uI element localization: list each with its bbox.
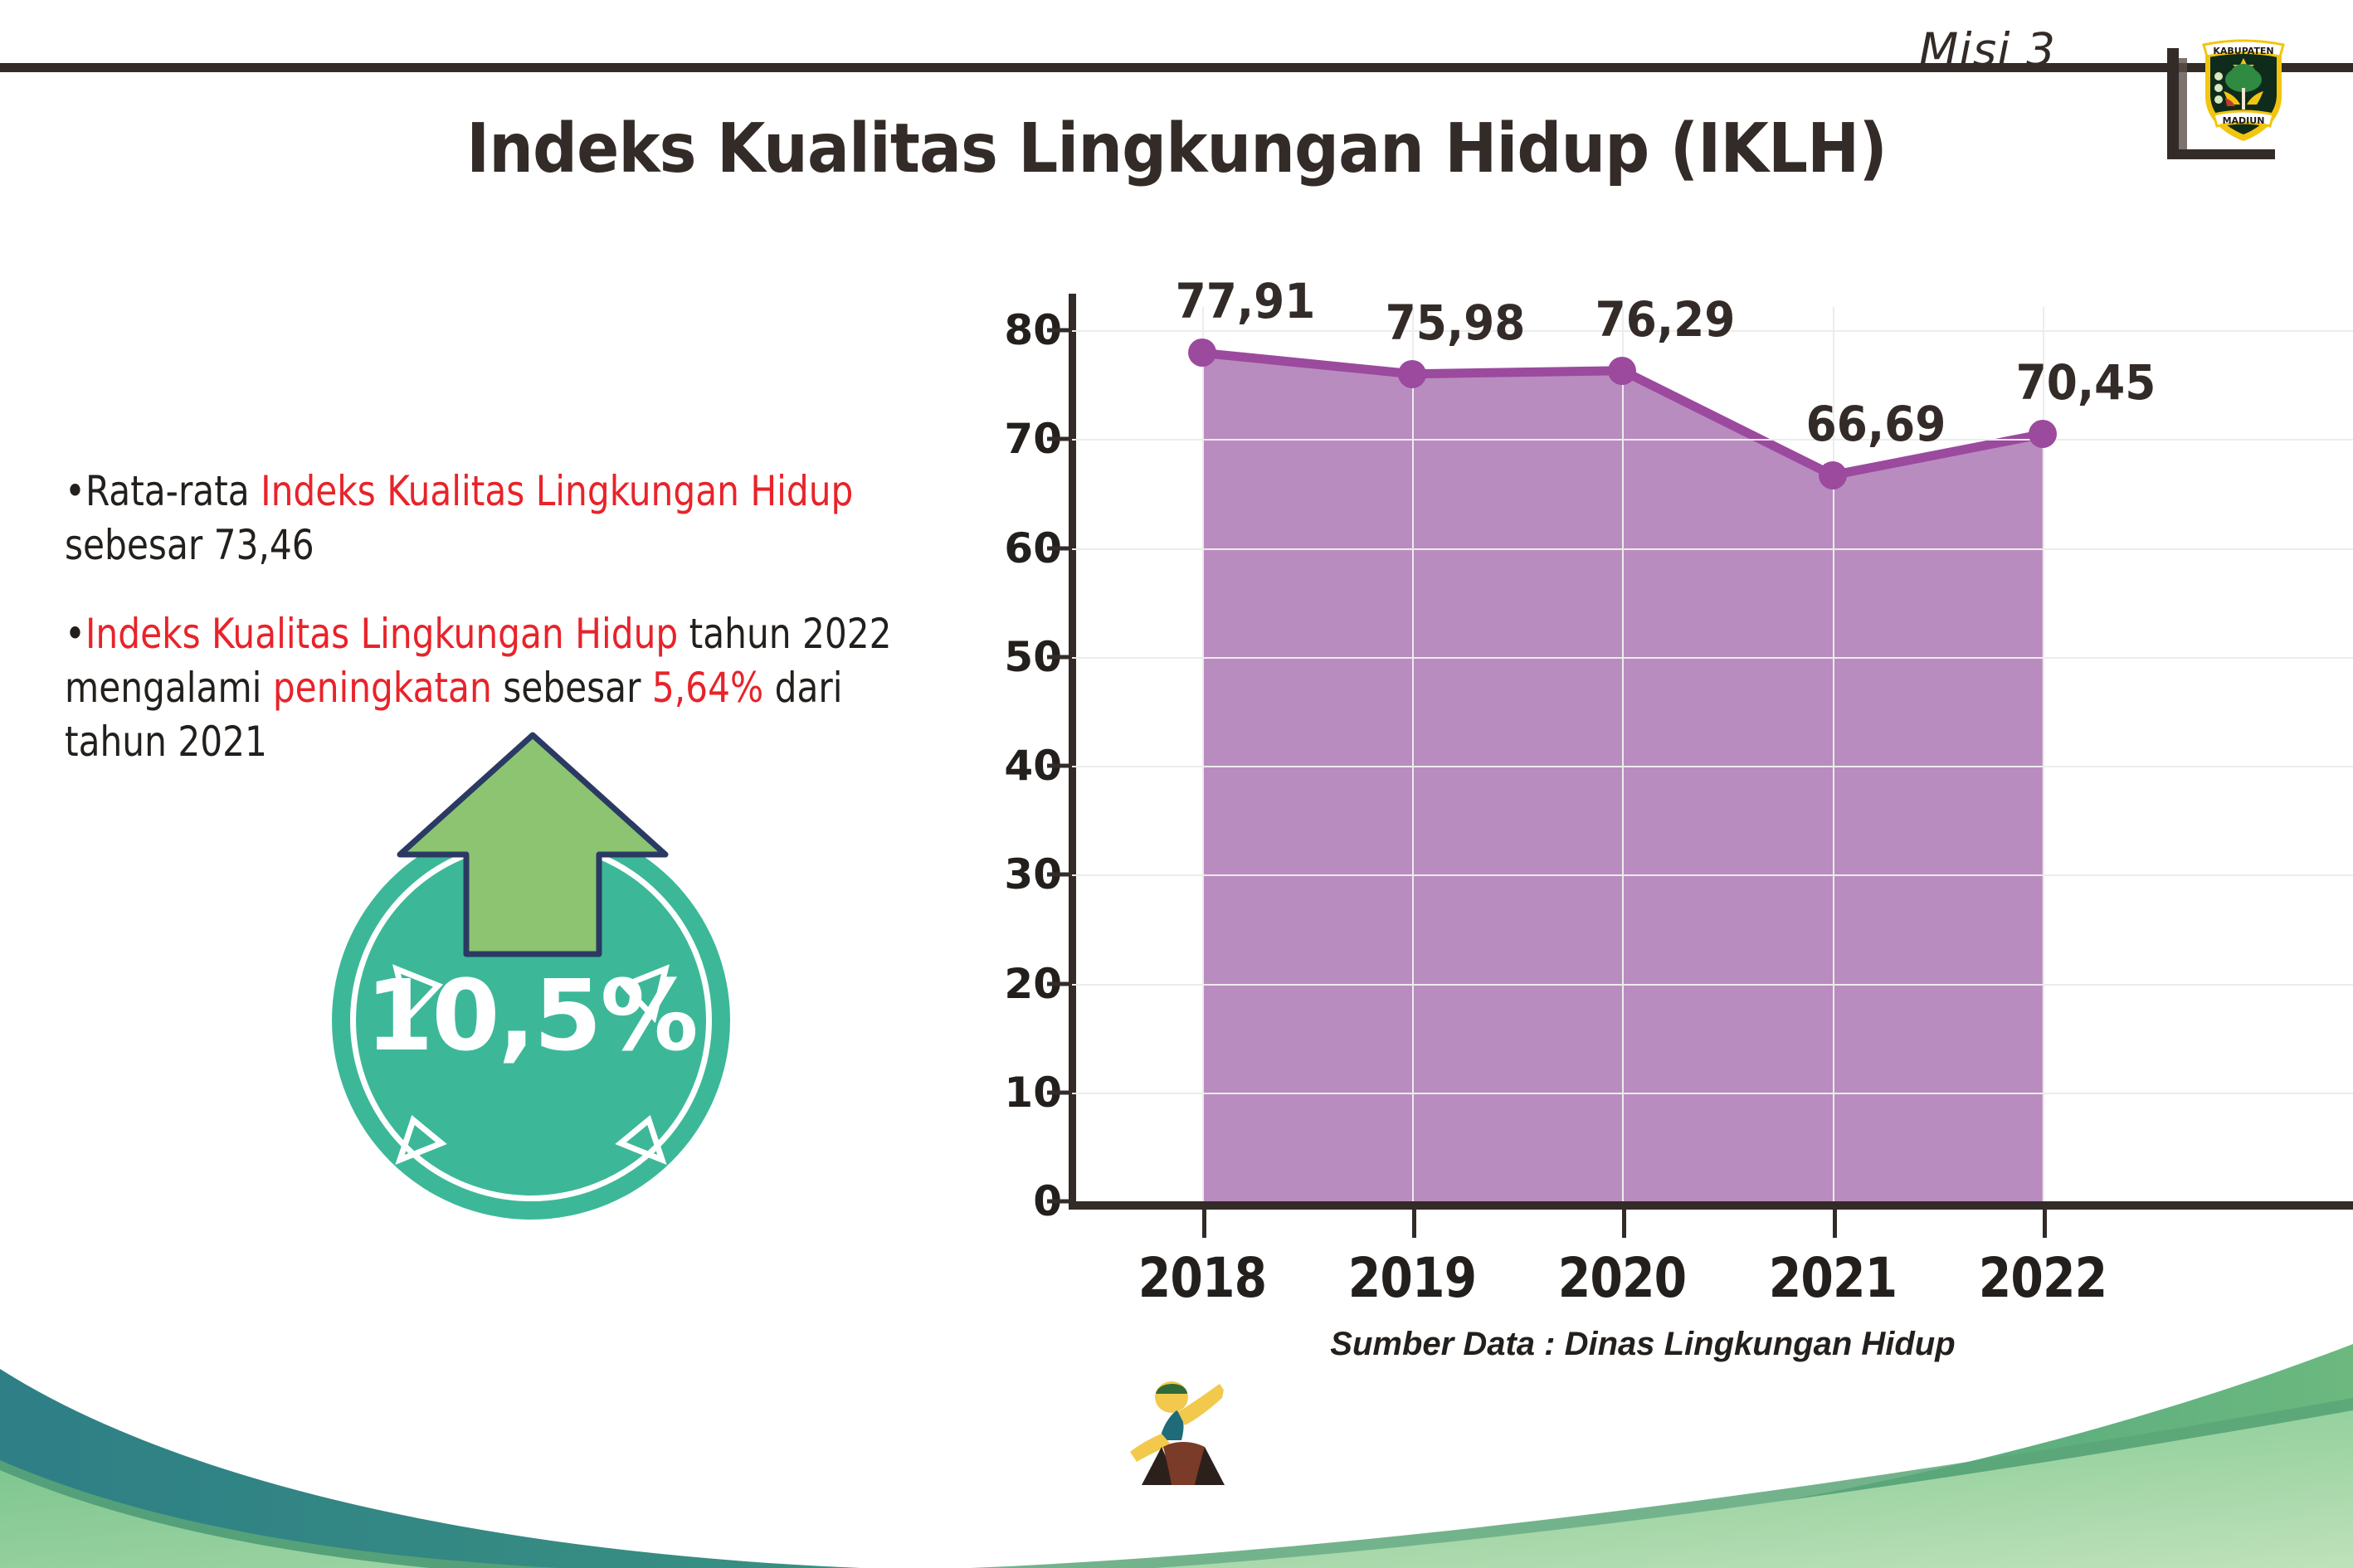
misi-label: Misi 3	[1919, 23, 2056, 76]
chart-data-label: 76,29	[1595, 291, 1736, 348]
chart-gridline	[1072, 874, 2353, 876]
chart-area-series	[1072, 307, 2248, 1201]
chart-x-axis	[1069, 1201, 2353, 1210]
chart-y-tick-mark	[1047, 655, 1069, 659]
chart-y-tick-mark	[1047, 1200, 1069, 1204]
chart-y-tick-mark	[1047, 981, 1069, 986]
bullet-run-5: 5,64%	[652, 664, 763, 712]
chart-gridline	[1072, 766, 2353, 767]
chart-x-tick-mark	[2043, 1210, 2047, 1238]
chart-vgridline	[1622, 307, 1624, 1201]
footer-text: Media Infografis Data Statistik Sektoral…	[1220, 1362, 2353, 1470]
chart-gridline	[1072, 548, 2353, 550]
chart-data-label: 77,91	[1176, 273, 1316, 329]
chart-data-point	[1608, 357, 1636, 385]
bullet-run-2: sebesar 73,46	[65, 521, 314, 569]
chart-data-point	[2029, 420, 2057, 448]
chart-gridline	[1072, 1093, 2353, 1094]
chart-y-tick-mark	[1047, 873, 1069, 877]
bullet-run-3: peningkatan	[273, 664, 492, 712]
chart-data-point	[1819, 461, 1847, 489]
chart-y-tick-mark	[1047, 546, 1069, 550]
chart-data-point	[1398, 360, 1426, 388]
chart-x-tick-mark	[1202, 1210, 1206, 1238]
iklh-area-chart: 01020304050607080 20182019202020212022 7…	[979, 274, 2307, 1220]
chart-x-tick-mark	[1833, 1210, 1837, 1238]
chart-x-tick-mark	[1412, 1210, 1416, 1238]
chart-gridline	[1072, 657, 2353, 659]
bullet-item-0: •Rata-rata Indeks Kualitas Lingkungan Hi…	[65, 465, 938, 572]
chart-x-tick-mark	[1622, 1210, 1626, 1238]
bullet-run-4: sebesar	[492, 664, 652, 712]
chart-y-tick-mark	[1047, 764, 1069, 768]
chart-y-tick-mark	[1047, 329, 1069, 333]
bullet-run-1: Indeks Kualitas Lingkungan Hidup	[261, 467, 853, 515]
chart-gridline	[1072, 439, 2353, 441]
chart-vgridline	[1202, 307, 1204, 1201]
chart-y-tick-mark	[1047, 1090, 1069, 1094]
logo-top-label: KABUPATEN	[2213, 46, 2273, 56]
chart-data-label: 70,45	[2015, 354, 2156, 411]
page-title: Indeks Kualitas Lingkungan Hidup (IKLH)	[94, 110, 2258, 188]
chart-data-point	[1188, 338, 1216, 367]
chart-plot-area	[1072, 307, 2248, 1195]
badge-percentage: 10,5%	[332, 958, 730, 1073]
bullet-run-0: •	[65, 610, 85, 658]
bullet-run-1: Indeks Kualitas Lingkungan Hidup	[85, 610, 678, 658]
chart-data-label: 66,69	[1805, 396, 1946, 452]
chart-data-label: 75,98	[1386, 295, 1526, 351]
growth-badge: 10,5%	[332, 821, 730, 1220]
chart-y-tick-mark	[1047, 437, 1069, 441]
bullet-run-0: •Rata-rata	[65, 467, 261, 515]
chart-gridline	[1072, 984, 2353, 986]
footer: Media Infografis Data Statistik Sektoral…	[0, 1253, 2353, 1568]
chart-vgridline	[1412, 307, 1414, 1201]
